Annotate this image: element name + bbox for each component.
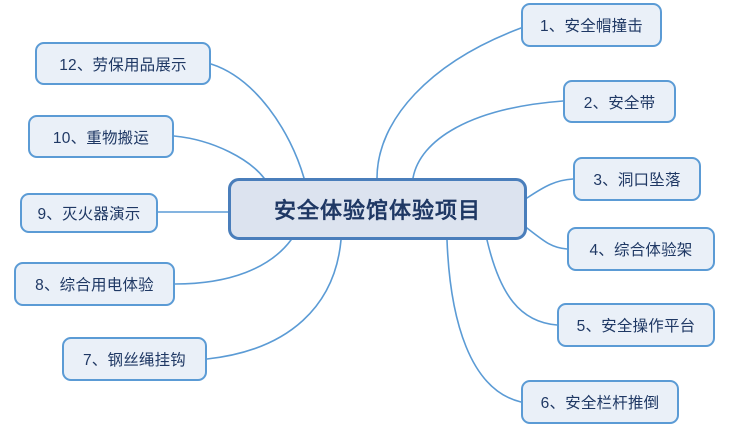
branch-node-label: 5、安全操作平台: [577, 314, 696, 336]
branch-node-3[interactable]: 3、洞口坠落: [573, 157, 701, 201]
branch-node-8[interactable]: 8、综合用电体验: [14, 262, 175, 306]
connector-2: [413, 101, 563, 178]
branch-node-label: 6、安全栏杆推倒: [541, 391, 660, 413]
branch-node-1[interactable]: 1、安全帽撞击: [521, 3, 662, 47]
connector-6: [447, 240, 521, 402]
branch-node-7[interactable]: 7、钢丝绳挂钩: [62, 337, 207, 381]
branch-node-label: 2、安全带: [584, 91, 656, 113]
branch-node-2[interactable]: 2、安全带: [563, 80, 676, 123]
connector-4: [527, 228, 567, 249]
branch-node-label: 9、灭火器演示: [37, 202, 140, 224]
connector-8: [175, 240, 291, 284]
branch-node-label: 8、综合用电体验: [35, 273, 154, 295]
connector-5: [487, 240, 557, 325]
branch-node-9[interactable]: 9、灭火器演示: [20, 193, 158, 233]
branch-node-4[interactable]: 4、综合体验架: [567, 227, 715, 271]
branch-node-12[interactable]: 12、劳保用品展示: [35, 42, 211, 85]
central-node-label: 安全体验馆体验项目: [274, 193, 481, 225]
connector-10: [174, 136, 264, 178]
connector-3: [527, 179, 573, 198]
branch-node-10[interactable]: 10、重物搬运: [28, 115, 174, 158]
branch-node-label: 7、钢丝绳挂钩: [83, 348, 186, 370]
central-node[interactable]: 安全体验馆体验项目: [228, 178, 527, 240]
branch-node-label: 1、安全帽撞击: [540, 14, 643, 36]
connector-1: [377, 28, 521, 178]
branch-node-label: 3、洞口坠落: [593, 168, 680, 190]
branch-node-label: 4、综合体验架: [589, 238, 692, 260]
mindmap-canvas: 安全体验馆体验项目 1、安全帽撞击2、安全带3、洞口坠落4、综合体验架5、安全操…: [0, 0, 743, 433]
branch-node-label: 12、劳保用品展示: [59, 53, 187, 75]
branch-node-6[interactable]: 6、安全栏杆推倒: [521, 380, 679, 424]
connector-7: [207, 240, 341, 359]
connector-12: [211, 64, 304, 178]
branch-node-5[interactable]: 5、安全操作平台: [557, 303, 715, 347]
branch-node-label: 10、重物搬运: [53, 126, 149, 148]
